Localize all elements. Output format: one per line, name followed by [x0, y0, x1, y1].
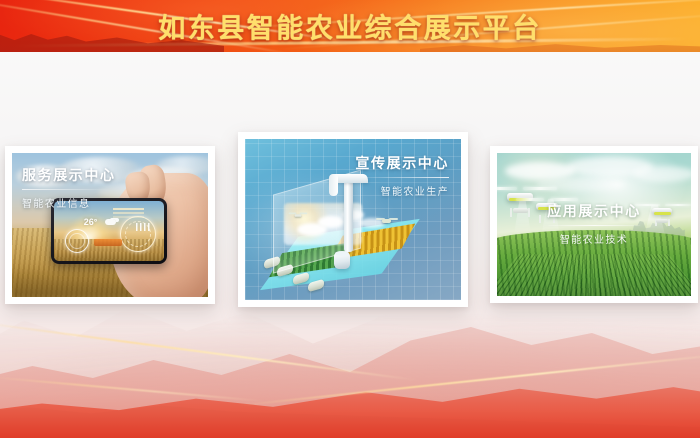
card-promotion-display-center[interactable]: 宣传展示中心 智能农业生产 [238, 132, 468, 307]
drone-icon [641, 202, 683, 220]
card-promotion-title: 宣传展示中心 [353, 153, 449, 173]
card-application-image: 应用展示中心 智能农业技术 [497, 153, 691, 296]
drone-leg [539, 215, 541, 223]
card-application-title: 应用展示中心 [547, 201, 641, 221]
card-service-divider [22, 189, 110, 190]
hud-action-button [94, 239, 123, 246]
card-promotion-image: 宣传展示中心 智能农业生产 [245, 139, 461, 300]
hud-tick-marks [136, 223, 150, 231]
card-service-display-center[interactable]: 26° 服务展示中心 智能农业信息 [5, 146, 215, 304]
water-bucket [334, 253, 350, 269]
drone-rotor [665, 204, 691, 207]
drone-leg [668, 219, 670, 226]
card-application-subtitle: 智能农业技术 [547, 231, 641, 246]
app-root: 如东县智能农业综合展示平台 [0, 0, 700, 438]
page-title: 如东县智能农业综合展示平台 [0, 7, 700, 46]
drone-body [294, 214, 301, 217]
cloud-shape [633, 166, 691, 182]
card-service-title: 服务展示中心 [22, 165, 116, 185]
drone-icon [377, 216, 397, 225]
header-banner: 如东县智能农业综合展示平台 [0, 0, 700, 52]
drone-spray-tank [656, 219, 668, 223]
card-service-image: 26° 服务展示中心 智能农业信息 [12, 153, 208, 297]
card-promotion-divider [353, 177, 449, 178]
card-promotion-title-block: 宣传展示中心 智能农业生产 [353, 153, 449, 198]
drone-rotor [516, 198, 545, 201]
hud-info-bars [113, 208, 144, 210]
drone-rotor [523, 187, 556, 190]
card-service-subtitle: 智能农业信息 [22, 195, 116, 210]
hud-temperature: 26° [84, 217, 98, 227]
card-service-title-block: 服务展示中心 智能农业信息 [22, 165, 116, 210]
drone-icon [290, 212, 307, 220]
card-promotion-subtitle: 智能农业生产 [353, 183, 449, 198]
drone-body [382, 219, 391, 223]
card-application-divider [548, 225, 640, 226]
drone-rotor [497, 187, 517, 190]
cloud-shape [157, 156, 208, 174]
cloud-icon [105, 219, 116, 225]
irrigation-pole [344, 178, 353, 252]
card-application-title-block: 应用展示中心 智能农业技术 [547, 201, 641, 246]
drone-accent [654, 212, 671, 215]
hud-ring-left [65, 229, 89, 253]
crop-field-rows [497, 254, 691, 296]
card-application-display-center[interactable]: 应用展示中心 智能农业技术 [490, 146, 698, 303]
